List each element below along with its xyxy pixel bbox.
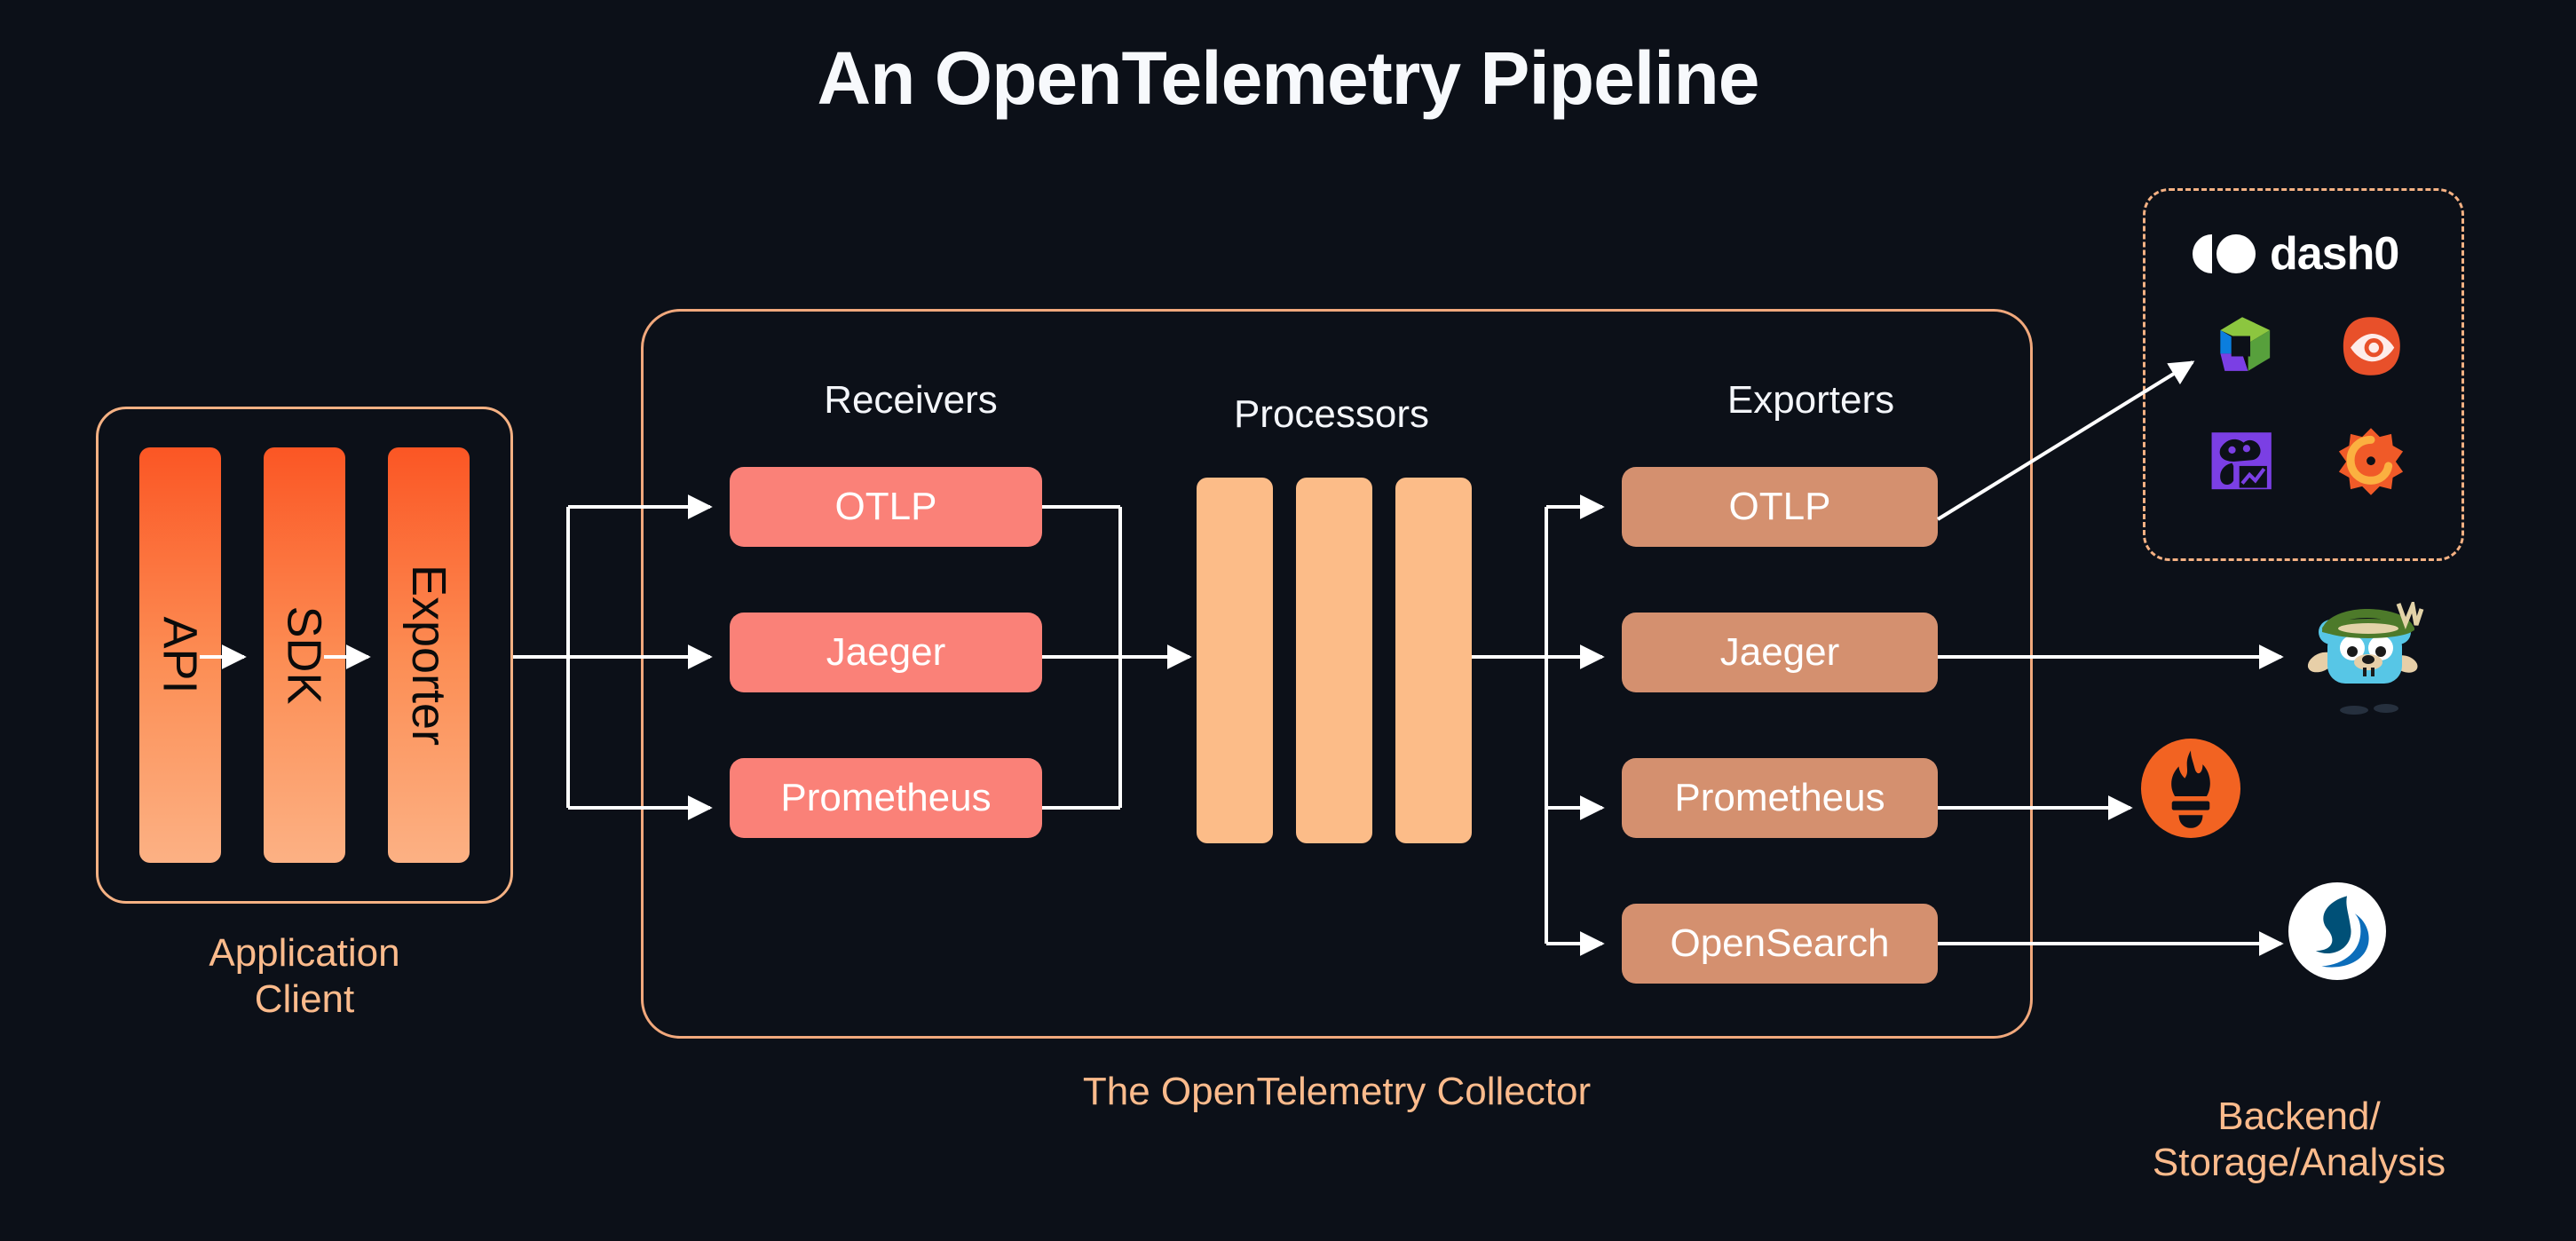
backend-caption-line1: Backend/	[2077, 1094, 2521, 1140]
client-bar-sdk[interactable]: SDK	[264, 447, 345, 863]
client-bar-exporter[interactable]: Exporter	[388, 447, 470, 863]
dash0-logo: dash0	[2193, 227, 2398, 281]
client-bar-api[interactable]: API	[139, 447, 221, 863]
page-title: An OpenTelemetry Pipeline	[0, 36, 2576, 122]
dash0-mark-icon	[2193, 234, 2256, 273]
processor-bar-3[interactable]	[1395, 478, 1472, 843]
exporters-heading: Exporters	[1633, 378, 1988, 423]
client-bar-sdk-label: SDK	[277, 605, 332, 704]
elastic-cube-logo-icon[interactable]	[2206, 310, 2279, 383]
jaeger-gopher-logo-icon[interactable]	[2281, 602, 2441, 726]
application-client-caption: Application Client	[96, 930, 513, 1023]
exporter-prometheus[interactable]: Prometheus	[1622, 758, 1938, 838]
grafana-spiral-logo-icon[interactable]	[2335, 425, 2407, 498]
backend-caption-line2: Storage/Analysis	[2077, 1140, 2521, 1186]
prometheus-flame-logo-icon[interactable]	[2141, 739, 2240, 838]
processors-heading: Processors	[1181, 392, 1482, 437]
receiver-jaeger[interactable]: Jaeger	[730, 613, 1042, 692]
exporter-jaeger[interactable]: Jaeger	[1622, 613, 1938, 692]
application-client-bars: API SDK Exporter	[99, 409, 510, 901]
processor-bar-2[interactable]	[1296, 478, 1372, 843]
receiver-otlp[interactable]: OTLP	[730, 467, 1042, 547]
dash0-half-circle-icon	[2193, 234, 2212, 273]
processor-bars	[1197, 478, 1472, 843]
exporter-otlp[interactable]: OTLP	[1622, 467, 1938, 547]
application-client-box: API SDK Exporter	[96, 407, 513, 904]
dash0-dot-icon	[2216, 234, 2256, 273]
receivers-heading: Receivers	[733, 378, 1088, 423]
collector-caption: The OpenTelemetry Collector	[641, 1070, 2033, 1114]
backend-vendor-logo-grid	[2182, 293, 2430, 515]
application-client-caption-line2: Client	[96, 976, 513, 1023]
client-bar-api-label: API	[153, 616, 208, 693]
processor-bar-1[interactable]	[1197, 478, 1273, 843]
diagram-canvas: An OpenTelemetry Pipeline API SDK Export…	[0, 0, 2576, 1241]
application-client-caption-line1: Application	[96, 930, 513, 976]
new-relic-eye-logo-icon[interactable]	[2335, 310, 2407, 383]
receiver-prometheus[interactable]: Prometheus	[730, 758, 1042, 838]
client-bar-exporter-label: Exporter	[401, 565, 456, 746]
dash0-wordmark: dash0	[2270, 227, 2398, 281]
datadog-dog-logo-icon[interactable]	[2206, 425, 2279, 498]
opensearch-swirl-logo-icon[interactable]	[2288, 882, 2386, 980]
backend-caption: Backend/ Storage/Analysis	[2077, 1094, 2521, 1186]
exporter-opensearch[interactable]: OpenSearch	[1622, 904, 1938, 984]
